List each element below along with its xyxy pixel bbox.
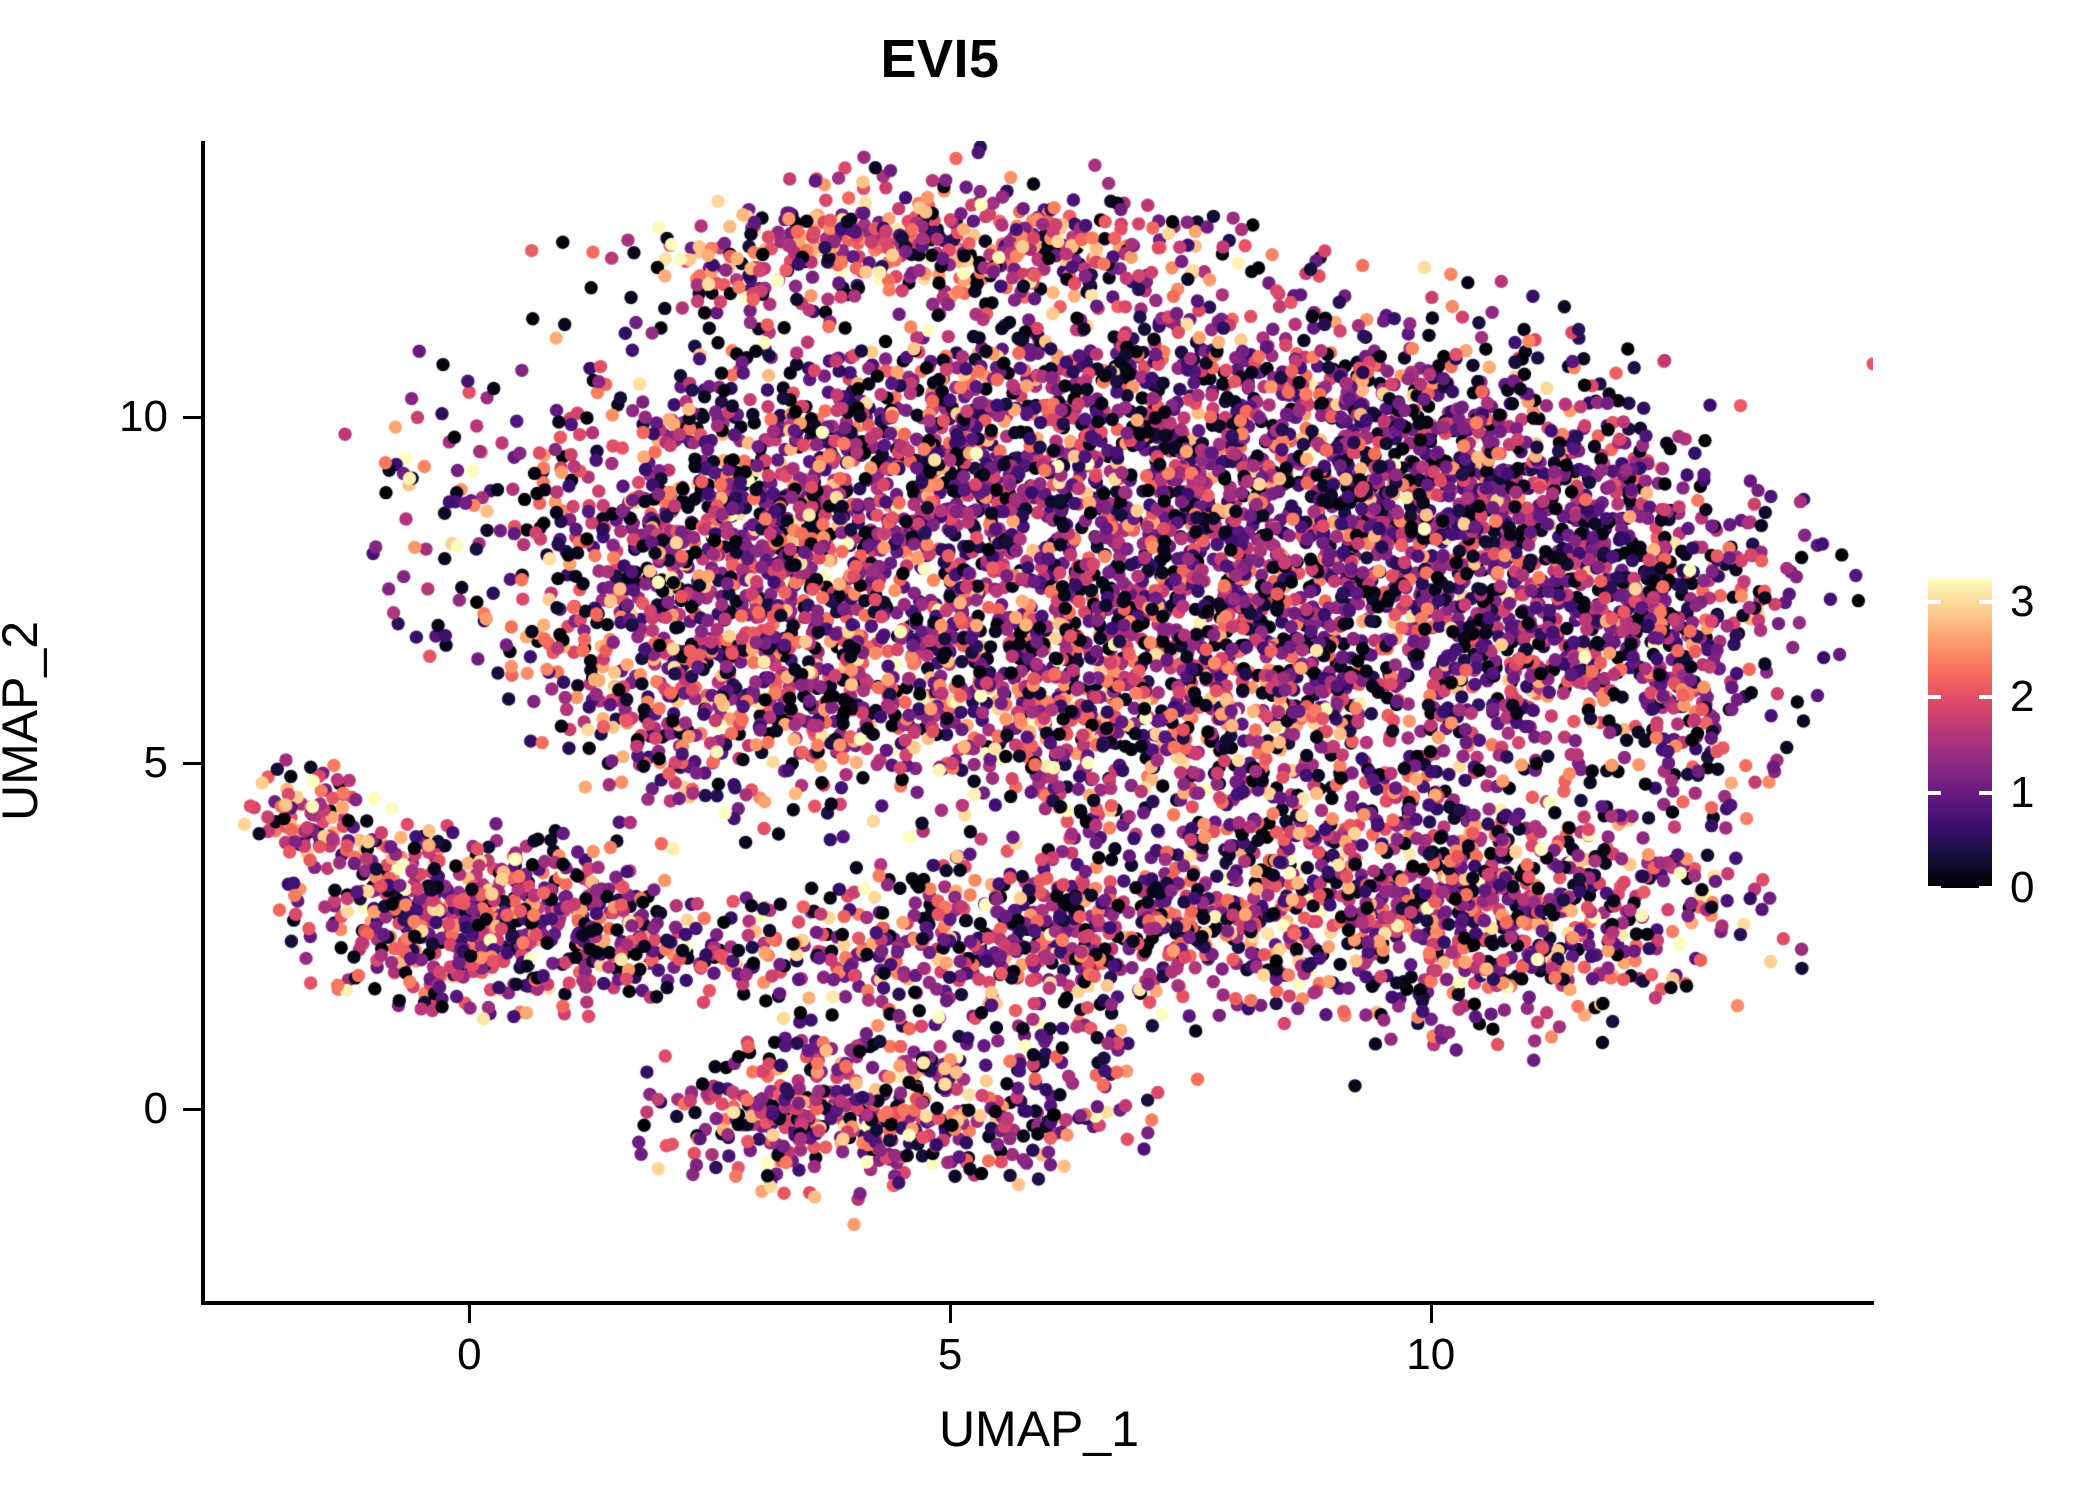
colorbar-legend: 0123 [1928, 578, 2088, 888]
x-axis-line [201, 1301, 1874, 1305]
plot-panel [205, 141, 1873, 1302]
x-tick-label: 5 [938, 1330, 962, 1380]
colorbar-tick-mark [1979, 791, 1992, 795]
colorbar-tick-mark [1979, 600, 1992, 604]
y-tick-mark [183, 762, 201, 765]
colorbar-tick-label: 1 [2010, 768, 2034, 818]
x-tick-label: 10 [1406, 1330, 1455, 1380]
colorbar-tick-mark [1979, 695, 1992, 699]
y-tick-mark [183, 1108, 201, 1111]
y-tick-label: 0 [0, 1084, 168, 1134]
x-tick-label: 0 [457, 1330, 481, 1380]
colorbar-tick-label: 3 [2010, 577, 2034, 627]
y-tick-mark [183, 416, 201, 419]
colorbar-tick-mark [1928, 791, 1941, 795]
x-tick-mark [1430, 1305, 1433, 1323]
colorbar-tick-mark [1928, 886, 1941, 890]
colorbar-tick-mark [1928, 600, 1941, 604]
x-tick-mark [468, 1305, 471, 1323]
y-tick-label: 10 [0, 392, 168, 442]
colorbar-tick-mark [1979, 886, 1992, 890]
colorbar-tick-label: 2 [2010, 672, 2034, 722]
colorbar-gradient [1928, 578, 1992, 888]
y-axis-line [201, 141, 205, 1305]
umap-feature-plot: EVI5 0510 0510 UMAP_1 UMAP_2 0123 [0, 0, 2100, 1500]
colorbar-tick-label: 0 [2010, 863, 2034, 913]
x-axis-label: UMAP_1 [205, 1400, 1873, 1458]
scatter-points-canvas [205, 141, 1873, 1302]
y-axis-label: UMAP_2 [0, 621, 49, 821]
page-title: EVI5 [0, 28, 1880, 90]
x-tick-mark [949, 1305, 952, 1323]
colorbar-tick-mark [1928, 695, 1941, 699]
